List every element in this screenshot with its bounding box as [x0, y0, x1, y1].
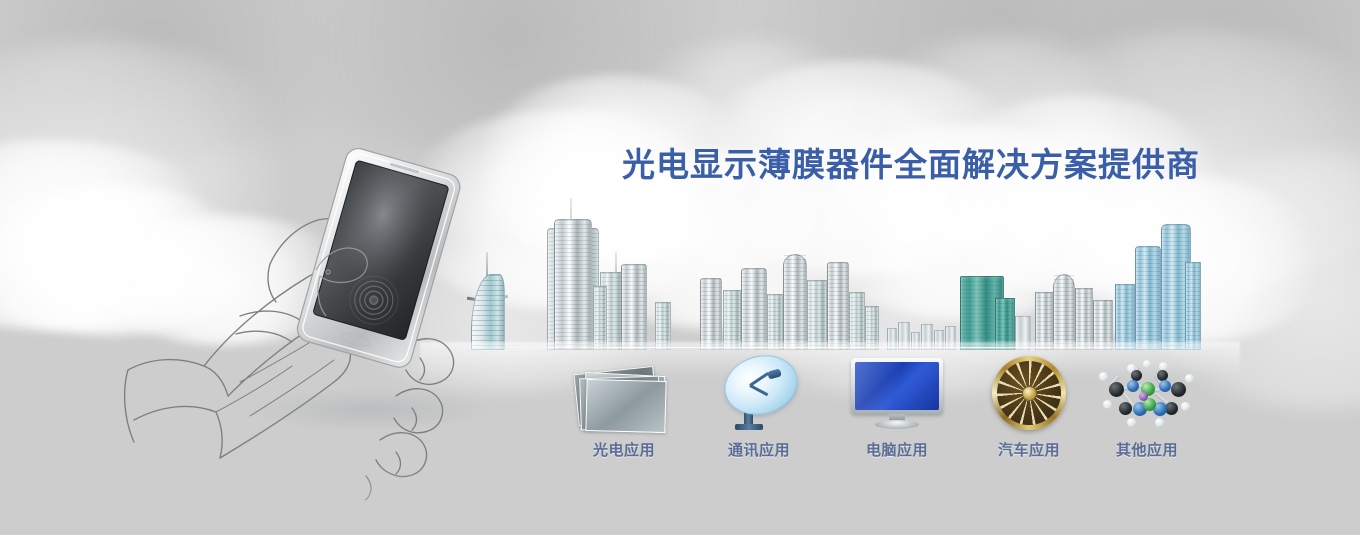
app-item-computer[interactable]: 电脑应用: [838, 352, 956, 464]
application-icon-row: 光电应用 通讯应用: [560, 352, 1200, 467]
app-label-other: 其他应用: [1088, 439, 1206, 460]
alloy-wheel-icon: [970, 352, 1088, 430]
app-item-communications[interactable]: 通讯应用: [700, 352, 818, 464]
hand-holding-smartphone-illustration: [120, 120, 500, 500]
horizon-line: [430, 347, 1230, 348]
page-title: 光电显示薄膜器件全面解决方案提供商: [622, 138, 1200, 186]
satellite-dish-icon: [700, 352, 818, 430]
glass-panels-icon: [565, 352, 683, 430]
city-skyline: [455, 190, 1195, 350]
app-label-communications: 通讯应用: [700, 439, 818, 460]
computer-monitor-icon: [838, 352, 956, 430]
app-item-other[interactable]: 其他应用: [1088, 352, 1206, 464]
molecule-icon: [1088, 352, 1206, 430]
app-label-computer: 电脑应用: [838, 439, 956, 460]
app-item-automotive[interactable]: 汽车应用: [970, 352, 1088, 464]
hand-sketch-svg: [120, 120, 500, 500]
app-label-automotive: 汽车应用: [970, 439, 1088, 460]
promo-banner: 光电显示薄膜器件全面解决方案提供商 光电应用: [0, 0, 1360, 535]
app-label-optoelectronics: 光电应用: [565, 439, 683, 460]
app-item-optoelectronics[interactable]: 光电应用: [565, 352, 683, 464]
